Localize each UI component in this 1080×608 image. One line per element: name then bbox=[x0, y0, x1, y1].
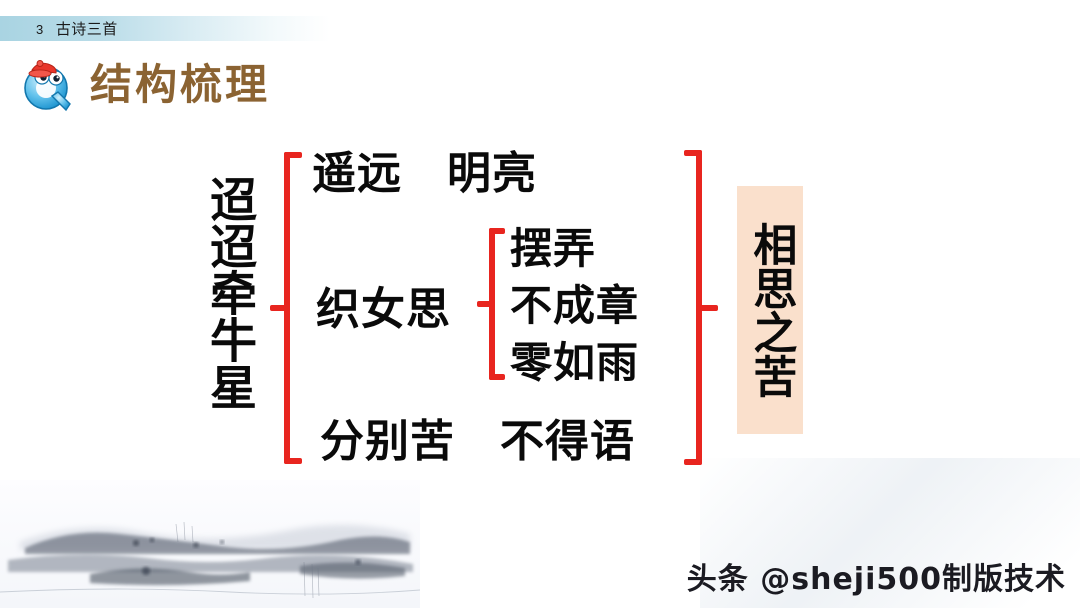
sub-item-2: 不成章 bbox=[510, 285, 639, 327]
inner-bracket bbox=[477, 228, 501, 380]
lesson-title: 古诗三首 bbox=[56, 21, 118, 38]
right-bracket-connector-tick bbox=[700, 305, 718, 311]
lesson-number: 3 bbox=[36, 22, 44, 37]
left-bracket bbox=[270, 152, 296, 464]
section-title-row: 结构梳理 bbox=[18, 56, 270, 114]
header-breadcrumb: 3古诗三首 bbox=[36, 18, 118, 39]
right-bracket-bottom-arm bbox=[684, 459, 702, 465]
inner-bracket-connector-tick bbox=[477, 301, 495, 307]
watermark-text: 头条 @sheji500制版技术 bbox=[687, 554, 1066, 598]
left-bracket-top-arm bbox=[284, 152, 302, 158]
branch-row-3: 分别苦 不得语 bbox=[320, 420, 635, 464]
result-label: 相思之苦 bbox=[747, 222, 794, 398]
branch-row-1: 遥远 明亮 bbox=[312, 152, 537, 196]
diagram-root-label: 迢迢牵牛星 bbox=[188, 175, 252, 410]
structure-diagram: 迢迢牵牛星 遥远 明亮 织女思 分别苦 不得语 摆弄 不成章 零如雨 相思之苦 bbox=[0, 130, 1080, 480]
q-mascot-icon bbox=[18, 56, 76, 114]
sub-item-3: 零如雨 bbox=[510, 342, 639, 384]
section-title: 结构梳理 bbox=[90, 64, 270, 106]
right-bracket bbox=[688, 150, 716, 465]
branch-row-2: 织女思 bbox=[316, 288, 451, 332]
left-bracket-connector-tick bbox=[270, 305, 290, 311]
right-bracket-top-arm bbox=[684, 150, 702, 156]
inner-bracket-bottom-arm bbox=[489, 374, 505, 380]
sub-item-1: 摆弄 bbox=[510, 228, 596, 270]
result-box: 相思之苦 bbox=[737, 186, 803, 434]
left-bracket-bottom-arm bbox=[284, 458, 302, 464]
inner-bracket-top-arm bbox=[489, 228, 505, 234]
ink-wash-landscape-image bbox=[0, 480, 420, 608]
